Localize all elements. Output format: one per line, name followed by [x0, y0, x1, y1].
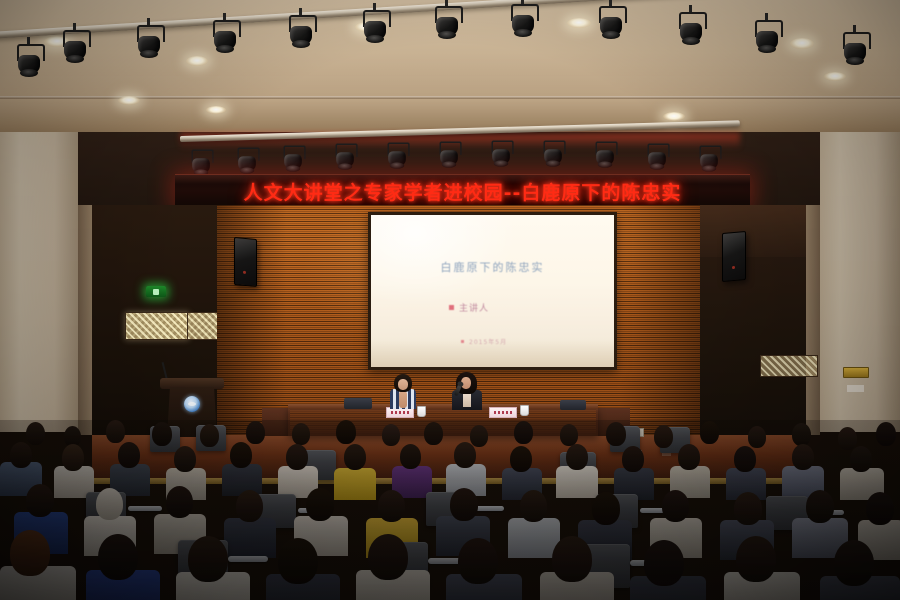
stage-spotlight	[286, 15, 316, 49]
stage-spotlight	[541, 140, 565, 167]
stage-spotlight	[645, 143, 669, 170]
wall-plaque	[843, 367, 869, 378]
lattice-window	[760, 355, 818, 377]
stage-spotlight	[840, 32, 870, 66]
exit-sign-icon	[146, 286, 166, 297]
downlight	[567, 18, 591, 28]
projection-screen-frame: 白鹿原下的陈忠实 主讲人 2015年5月	[368, 212, 617, 370]
speaker-right	[452, 372, 482, 409]
stage-spotlight	[432, 6, 462, 40]
stage-spotlight	[385, 142, 409, 169]
downlight	[186, 56, 208, 66]
stage-spotlight	[676, 12, 706, 46]
name-card	[489, 407, 517, 418]
stage-spotlight	[210, 20, 240, 54]
downlight	[663, 112, 685, 121]
wall-notice	[847, 385, 864, 392]
downlight	[206, 106, 226, 114]
speaker-left-face	[398, 379, 408, 390]
head-table-top	[288, 404, 598, 409]
bag-on-table	[560, 400, 586, 410]
left-wall-pillar	[0, 132, 78, 432]
slide-bullet-text: 主讲人	[459, 301, 489, 314]
screen-shadow	[371, 341, 614, 367]
banner-sheen	[175, 174, 750, 184]
water-cup	[520, 405, 529, 416]
left-pillar-edge	[78, 205, 92, 435]
stage-spotlight	[593, 141, 617, 168]
stage-spotlight	[489, 140, 513, 167]
stage-spotlight	[596, 6, 626, 40]
speaker-left	[390, 374, 416, 408]
stage-spotlight	[697, 145, 721, 172]
speaker-left-body	[390, 389, 416, 409]
downlight	[790, 38, 814, 49]
stage-spotlight	[752, 20, 782, 54]
water-cup	[417, 406, 426, 417]
lattice-window	[125, 312, 189, 340]
right-wall-recess-top	[700, 205, 806, 257]
stage-spotlight	[235, 147, 259, 174]
stage-spotlight	[60, 30, 90, 64]
projection-screen: 白鹿原下的陈忠实 主讲人 2015年5月	[371, 215, 614, 367]
stage-spotlight	[14, 44, 44, 78]
right-pillar-edge	[806, 205, 820, 435]
stage-spotlight	[134, 25, 164, 59]
downlight	[118, 96, 140, 105]
stage-wall-shadow-right	[620, 205, 700, 435]
stage-spotlight	[333, 143, 357, 170]
bullet-marker-icon	[449, 305, 454, 310]
downlight	[824, 72, 846, 81]
slide-bullet: 主讲人	[449, 301, 489, 314]
stage-spotlight	[281, 145, 305, 172]
stage-spotlight	[189, 149, 213, 176]
bag-on-table	[344, 398, 372, 409]
university-emblem-icon	[184, 396, 200, 412]
lecture-hall-photo: 人文大讲堂之专家学者进校园--白鹿原下的陈忠实 白鹿原下的陈忠实 主讲人	[0, 0, 900, 600]
slide-title: 白鹿原下的陈忠实	[371, 259, 614, 275]
stage-spotlight	[508, 4, 538, 38]
loudspeaker-icon	[722, 231, 746, 282]
stage-spotlight	[437, 141, 461, 168]
loudspeaker-icon	[234, 237, 257, 287]
stage-spotlight	[360, 10, 390, 44]
audience-shadow-overlay	[0, 420, 900, 600]
